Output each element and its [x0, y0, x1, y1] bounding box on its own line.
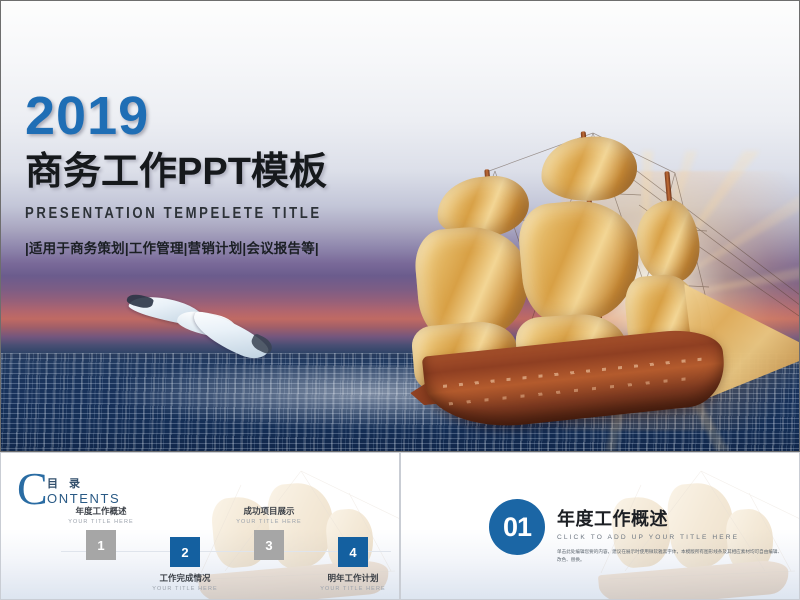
toc-item-4[interactable]: 4 明年工作计划 YOUR TITLE HERE — [313, 537, 393, 592]
toc-item-title: 成功项目展示 — [229, 505, 309, 517]
contents-en-label: ONTENTS — [47, 491, 120, 506]
section-body-text: 单击此处编辑您要的内容，建议在展示时使用微软雅黑字体，本模版所有图形线条及其相应… — [557, 548, 783, 564]
toc-item-title: 明年工作计划 — [313, 572, 393, 584]
toc-item-subtitle: YOUR TITLE HERE — [229, 519, 309, 525]
toc-item-subtitle: YOUR TITLE HERE — [313, 586, 393, 592]
toc-item-3[interactable]: 成功项目展示 YOUR TITLE HERE 3 — [229, 505, 309, 560]
toc-item-title: 年度工作概述 — [61, 505, 141, 517]
toc-item-number: 3 — [254, 530, 284, 560]
toc-item-number: 4 — [338, 537, 368, 567]
hero-text-block: 2019 商务工作PPT模板 PRESENTATION TEMPELETE TI… — [25, 89, 445, 257]
hero-year: 2019 — [25, 89, 445, 143]
section-number: 01 — [503, 512, 531, 543]
toc-item-title: 工作完成情况 — [145, 572, 225, 584]
hero-main-title: 商务工作PPT模板 — [25, 153, 445, 193]
toc-item-2[interactable]: 2 工作完成情况 YOUR TITLE HERE — [145, 537, 225, 592]
toc-item-number: 2 — [170, 537, 200, 567]
toc-item-1[interactable]: 年度工作概述 YOUR TITLE HERE 1 — [61, 505, 141, 560]
section-number-badge: 01 — [489, 499, 545, 555]
toc-item-subtitle: YOUR TITLE HERE — [145, 586, 225, 592]
contents-slide[interactable]: C 目 录 ONTENTS 年度工作概述 YOUR TITLE HERE 1 2… — [0, 452, 400, 600]
section-divider-slide[interactable]: 01 年度工作概述 CLICK TO ADD UP YOUR TITLE HER… — [400, 452, 800, 600]
contents-cn-label: 目 录 — [47, 475, 84, 491]
thumbnail-row: C 目 录 ONTENTS 年度工作概述 YOUR TITLE HERE 1 2… — [0, 452, 800, 600]
hero-tagline: |适用于商务策划|工作管理|营销计划|会议报告等| — [25, 237, 445, 257]
toc-item-subtitle: YOUR TITLE HERE — [61, 519, 141, 525]
presentation-deck: 2019 商务工作PPT模板 PRESENTATION TEMPELETE TI… — [0, 0, 800, 600]
section-title: 年度工作概述 — [557, 505, 787, 531]
table-of-contents: 年度工作概述 YOUR TITLE HERE 1 2 工作完成情况 YOUR T… — [61, 505, 391, 597]
section-text-block: 年度工作概述 CLICK TO ADD UP YOUR TITLE HERE 单… — [557, 505, 787, 564]
hero-sub-title: PRESENTATION TEMPELETE TITLE — [25, 205, 369, 223]
section-subtitle: CLICK TO ADD UP YOUR TITLE HERE — [557, 534, 787, 541]
toc-item-number: 1 — [86, 530, 116, 560]
seagull-image — [127, 293, 273, 367]
hero-slide[interactable]: 2019 商务工作PPT模板 PRESENTATION TEMPELETE TI… — [0, 0, 800, 452]
contents-initial-letter: C — [17, 467, 48, 511]
